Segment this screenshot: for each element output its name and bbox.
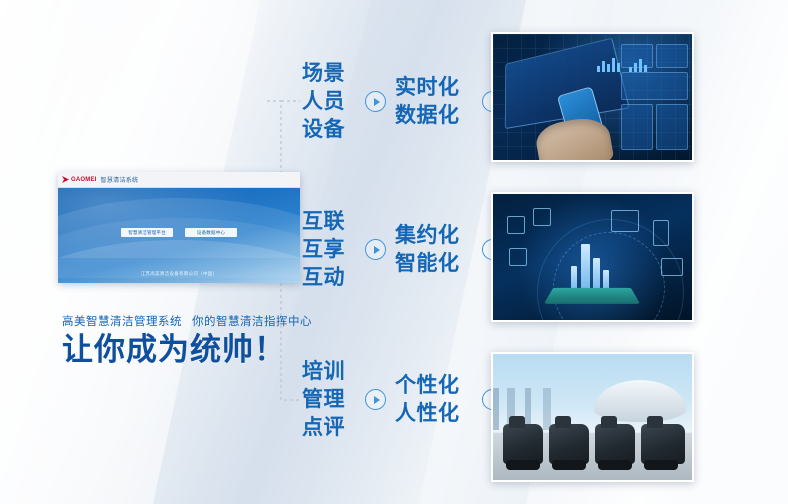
slogan-block: 高美智慧清洁管理系统你的智慧清洁指挥中心 让你成为统帅！: [62, 313, 312, 367]
machine-seat: [509, 416, 525, 428]
row2-keyword-1: 互联: [302, 208, 356, 236]
row1-result-2: 数据化: [395, 102, 473, 130]
row1-keyword-3: 设备: [302, 116, 356, 144]
arrow-right-icon: [365, 239, 386, 260]
thumbnail-smart-city[interactable]: [491, 192, 694, 322]
content-row-2: 互联 互享 互动 集约化 智能化: [302, 208, 512, 292]
row1-result-1: 实时化: [395, 74, 473, 102]
machine-seat: [647, 416, 663, 428]
row1-keyword-2: 人员: [302, 88, 356, 116]
cleaning-machine: [641, 424, 685, 464]
thumbnail-cleaning-machines[interactable]: [491, 352, 694, 482]
satellite-icon: [533, 208, 551, 226]
monitor-icon: [611, 210, 639, 232]
browser-title-bar: GAOMEI 智慧清洁系统: [58, 172, 300, 188]
slogan-headline: 让你成为统帅！: [62, 334, 312, 367]
row3-keyword-1: 培训: [302, 358, 356, 386]
arrow-right-icon: [365, 389, 386, 410]
bar-chart-decor: [629, 58, 647, 72]
row3-keyword-column: 培训 管理 点评: [302, 358, 356, 442]
phone-icon: [653, 220, 669, 246]
row1-keyword-1: 场景: [302, 60, 356, 88]
arrow-right-icon: [365, 91, 386, 112]
city-tower-graphic: [581, 244, 590, 292]
row1-keyword-column: 场景 人员 设备: [302, 60, 356, 144]
slogan-sub-right: 你的智慧清洁指挥中心: [192, 316, 312, 328]
machine-seat: [601, 416, 617, 428]
panel-button-platform[interactable]: 智慧清洁管理平台: [121, 228, 173, 237]
thumbnail-3-image: [493, 354, 692, 480]
row2-keyword-2: 互享: [302, 236, 356, 264]
thumbnail-data-dashboard[interactable]: [491, 32, 694, 162]
browser-tab-title: 智慧清洁系统: [101, 175, 139, 184]
cleaning-machine: [503, 424, 543, 464]
machine-seat: [555, 416, 571, 428]
thumbnail-2-image: [493, 194, 692, 320]
row2-keyword-column: 互联 互享 互动: [302, 208, 356, 292]
panel-footer-text: 江苏高美清洁设备有限公司（中国）: [58, 271, 300, 277]
slogan-subline: 高美智慧清洁管理系统你的智慧清洁指挥中心: [62, 313, 312, 329]
row3-result-2: 人性化: [395, 400, 473, 428]
content-row-3: 培训 管理 点评 个性化 人性化: [302, 358, 512, 442]
row3-keyword-3: 点评: [302, 414, 356, 442]
thumbnail-1-image: [493, 34, 692, 160]
poster-canvas: GAOMEI 智慧清洁系统 智慧清洁管理平台 设备数据中心 江苏高美清洁设备有限…: [0, 0, 788, 504]
content-row-1: 场景 人员 设备 实时化 数据化: [302, 60, 512, 144]
row1-result-column: 实时化 数据化: [395, 74, 473, 130]
panel-hero: 智慧清洁管理平台 设备数据中心 江苏高美清洁设备有限公司（中国）: [58, 188, 300, 283]
dashboard-card: [656, 104, 688, 150]
row2-result-1: 集约化: [395, 222, 473, 250]
row3-result-1: 个性化: [395, 372, 473, 400]
bar-chart-decor: [597, 56, 620, 72]
logo-mark-icon: [62, 176, 69, 183]
panel-button-datacenter[interactable]: 设备数据中心: [185, 228, 237, 237]
city-base-platform: [544, 288, 640, 304]
slogan-sub-left: 高美智慧清洁管理系统: [62, 316, 182, 328]
row2-keyword-3: 互动: [302, 264, 356, 292]
dashboard-card: [621, 72, 688, 100]
product-screenshot-panel[interactable]: GAOMEI 智慧清洁系统 智慧清洁管理平台 设备数据中心 江苏高美清洁设备有限…: [58, 172, 300, 283]
row2-result-2: 智能化: [395, 250, 473, 278]
panel-button-group: 智慧清洁管理平台 设备数据中心: [58, 228, 300, 237]
gaomei-logo: GAOMEI: [62, 176, 97, 183]
logo-text: GAOMEI: [71, 177, 97, 183]
cleaning-machine: [595, 424, 635, 464]
iot-icon: [509, 248, 527, 266]
cleaning-machine: [549, 424, 589, 464]
iot-icon: [507, 216, 525, 234]
row3-keyword-2: 管理: [302, 386, 356, 414]
row2-result-column: 集约化 智能化: [395, 222, 473, 278]
row3-result-column: 个性化 人性化: [395, 372, 473, 428]
cloud-icon: [661, 258, 683, 276]
dashboard-card: [621, 104, 653, 150]
dashboard-card: [656, 44, 688, 68]
